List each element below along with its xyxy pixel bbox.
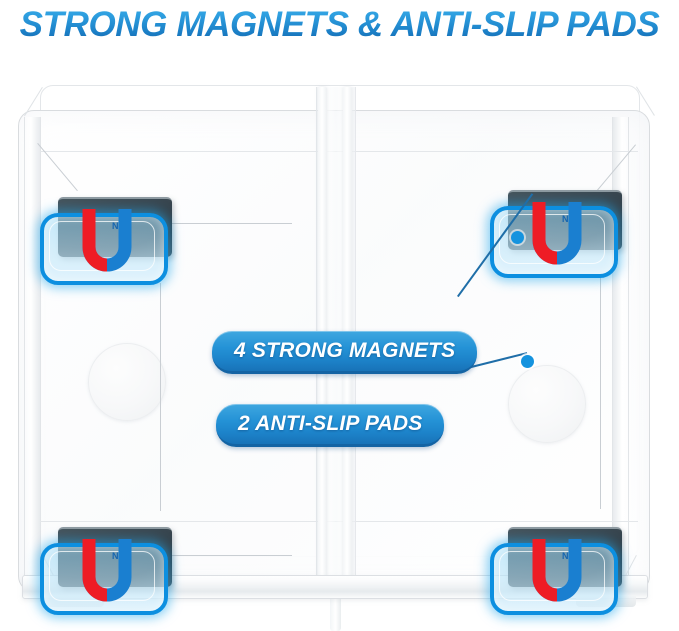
magnet-pole-label: N — [112, 551, 119, 561]
magnet-pole-label: N — [562, 214, 569, 224]
magnet-bottom-left: N — [36, 525, 182, 611]
callout-badge-pads[interactable]: 2 ANTI-SLIP PADS — [216, 404, 444, 447]
pads-callout-anchor-dot — [521, 355, 534, 368]
callout-badge-magnets[interactable]: 4 STRONG MAGNETS — [212, 331, 477, 374]
horseshoe-magnet-icon — [530, 200, 584, 268]
hairline-left-vert — [160, 283, 161, 511]
magnet-bottom-right: N — [486, 525, 632, 611]
anti-slip-pad-left — [88, 343, 166, 421]
hairline-top-left-h — [172, 223, 292, 224]
horseshoe-magnet-icon — [80, 537, 134, 605]
hairline-right-vert — [600, 277, 601, 509]
hairline-bottom-left-h — [172, 555, 292, 556]
magnets-callout-anchor-dot — [511, 231, 524, 244]
page-title: STRONG MAGNETS & ANTI-SLIP PADS — [0, 2, 679, 48]
magnet-pole-label: N — [112, 221, 119, 231]
horseshoe-magnet-icon — [530, 537, 584, 605]
anti-slip-pad-right — [508, 365, 586, 443]
magnet-top-right: N — [486, 188, 632, 274]
magnet-top-left: N — [36, 195, 182, 281]
product-illustration: N N N N 4 STRONG MAGN — [0, 55, 679, 615]
magnet-pole-label: N — [562, 551, 569, 561]
acrylic-side-panel-left — [24, 117, 41, 587]
horseshoe-magnet-icon — [80, 207, 134, 275]
